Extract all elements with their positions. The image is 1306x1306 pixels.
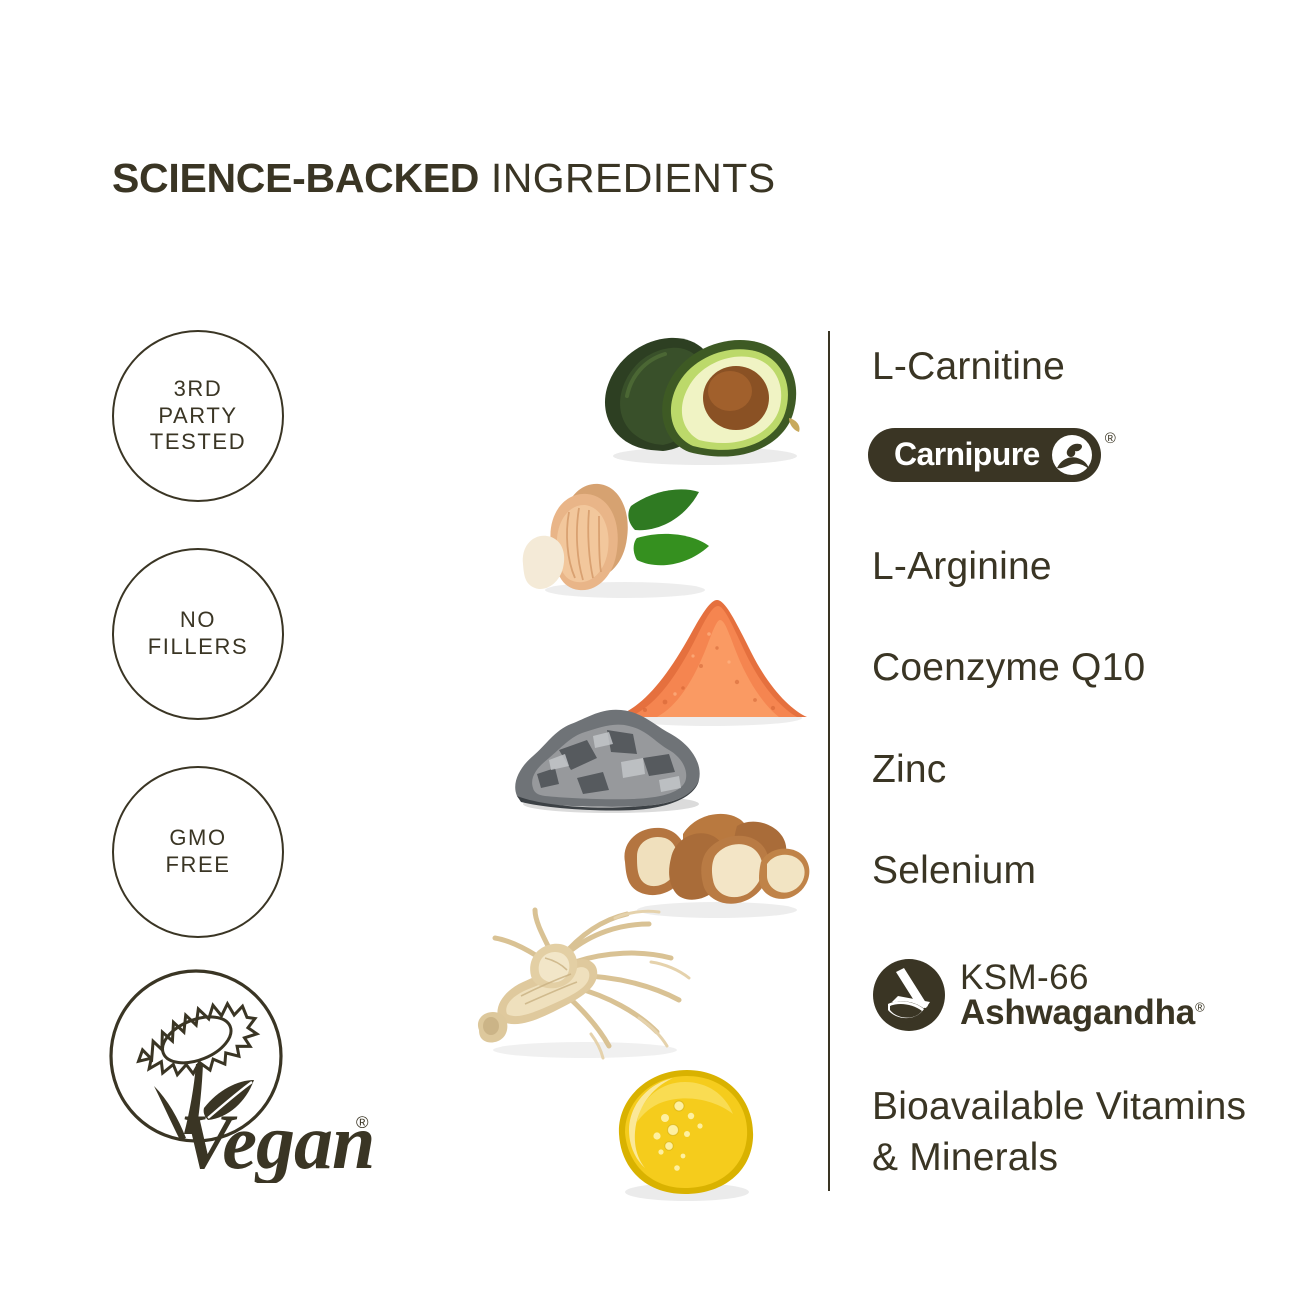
badge-line: PARTY <box>150 403 246 430</box>
badge-no-fillers: NO FILLERS <box>112 548 284 720</box>
column-divider <box>828 331 830 1191</box>
page-title-light: INGREDIENTS <box>479 155 775 201</box>
avocado-photo <box>593 332 823 467</box>
ingredient-image-column <box>455 320 815 1210</box>
ingredient-l-arginine: L-Arginine <box>872 544 1052 589</box>
badge-line: FREE <box>165 852 230 879</box>
ingredient-l-carnitine: L-Carnitine <box>872 344 1065 389</box>
badge-line: GMO <box>165 825 230 852</box>
vegan-society-logo: Vegan ® <box>104 968 394 1183</box>
ingredient-selenium: Selenium <box>872 848 1036 893</box>
badge-third-party-tested: 3RD PARTY TESTED <box>112 330 284 502</box>
carnipure-registered-mark: ® <box>1105 430 1116 447</box>
svg-text:Vegan: Vegan <box>180 1098 374 1183</box>
ksm66-registered-mark: ® <box>1195 999 1204 1014</box>
badge-line: FILLERS <box>148 634 248 661</box>
vegan-wordmark: Vegan ® <box>180 1098 374 1183</box>
carnipure-wordmark: Carnipure <box>894 438 1040 470</box>
ksm66-label-bottom-text: Ashwagandha <box>960 993 1195 1032</box>
badge-no-fillers-label: NO FILLERS <box>148 607 248 661</box>
ashwagandha-root-photo <box>465 902 705 1062</box>
badge-line: TESTED <box>150 429 246 456</box>
carnipure-figure-icon <box>1052 435 1092 475</box>
badge-line: 3RD <box>150 376 246 403</box>
ingredient-zinc: Zinc <box>872 747 946 792</box>
badge-line: NO <box>148 607 248 634</box>
badge-third-party-tested-label: 3RD PARTY TESTED <box>150 376 246 456</box>
ksm66-emblem-icon <box>872 958 946 1032</box>
ksm66-wordmark: KSM-66 Ashwagandha® <box>960 960 1204 1030</box>
ingredient-bioavailable-vitamins-minerals: Bioavailable Vitamins & Minerals <box>872 1082 1272 1183</box>
ksm66-label-bottom: Ashwagandha® <box>960 995 1204 1030</box>
svg-text:®: ® <box>356 1113 369 1132</box>
ingredient-carnipure-logo: Carnipure ® <box>868 428 1116 482</box>
ingredient-ksm66-ashwagandha-logo: KSM-66 Ashwagandha® <box>872 958 1204 1032</box>
zinc-ore-photo <box>503 696 718 816</box>
page-title-strong: SCIENCE-BACKED <box>112 155 479 201</box>
infographic-canvas: SCIENCE-BACKED INGREDIENTS 3RD PARTY TES… <box>0 0 1306 1306</box>
carnipure-pill: Carnipure <box>868 428 1101 482</box>
badge-gmo-free-label: GMO FREE <box>165 825 230 879</box>
badge-gmo-free: GMO FREE <box>112 766 284 938</box>
page-title: SCIENCE-BACKED INGREDIENTS <box>112 158 776 199</box>
almond-photo <box>513 472 743 602</box>
certification-badge-column: 3RD PARTY TESTED NO FILLERS GMO FREE <box>112 330 292 984</box>
ksm66-label-top: KSM-66 <box>960 960 1204 995</box>
oil-drop-photo <box>603 1060 768 1205</box>
ingredient-coenzyme-q10: Coenzyme Q10 <box>872 645 1145 690</box>
